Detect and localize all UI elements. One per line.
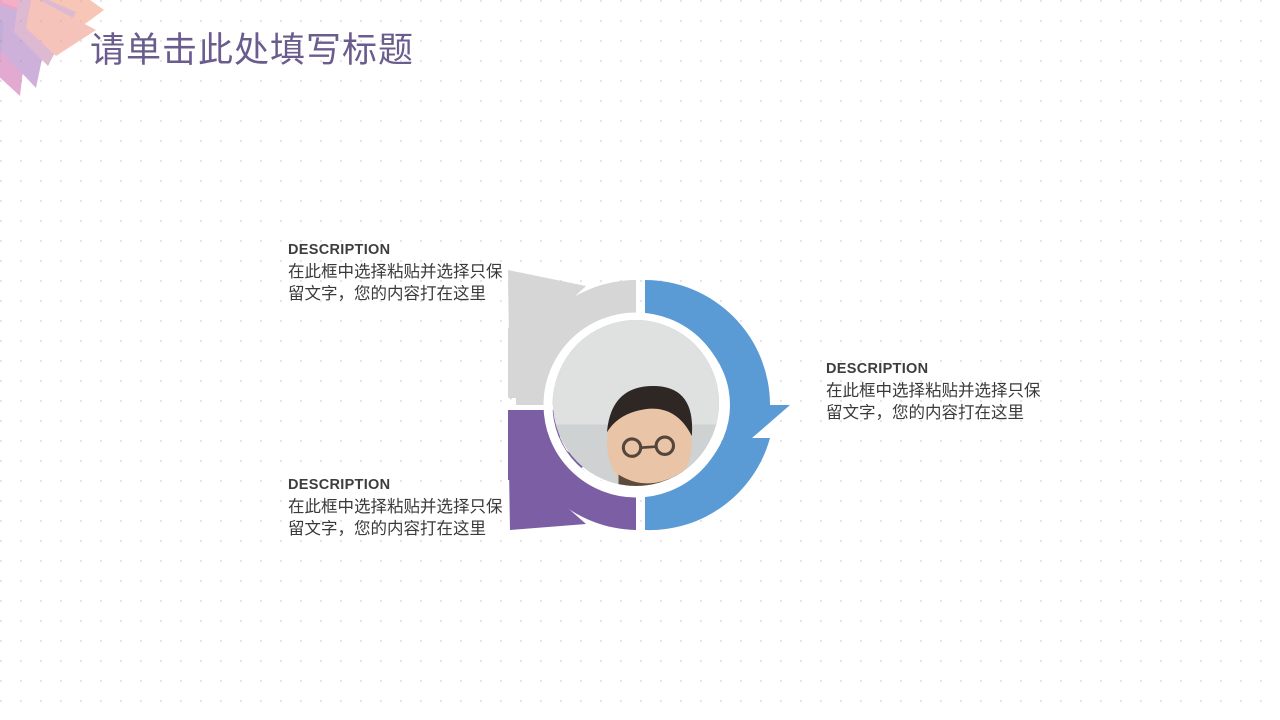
slide-canvas: 请单击此处填写标题 xyxy=(0,0,1280,720)
description-heading: DESCRIPTION xyxy=(288,476,540,494)
description-block-bottom-left: DESCRIPTION 在此框中选择粘贴并选择只保 留文字，您的内容打在这里 xyxy=(288,476,540,540)
description-text: 在此框中选择粘贴并选择只保 留文字，您的内容打在这里 xyxy=(826,380,1078,424)
description-line-2: 留文字，您的内容打在这里 xyxy=(288,518,540,540)
center-photo xyxy=(553,320,719,486)
page-title: 请单击此处填写标题 xyxy=(90,28,414,74)
description-text: 在此框中选择粘贴并选择只保 留文字，您的内容打在这里 xyxy=(288,496,540,540)
description-line-1: 在此框中选择粘贴并选择只保 xyxy=(288,261,540,283)
description-block-top-left: DESCRIPTION 在此框中选择粘贴并选择只保 留文字，您的内容打在这里 xyxy=(288,241,540,305)
description-line-1: 在此框中选择粘贴并选择只保 xyxy=(826,380,1078,402)
description-text: 在此框中选择粘贴并选择只保 留文字，您的内容打在这里 xyxy=(288,261,540,305)
description-heading: DESCRIPTION xyxy=(288,241,540,259)
description-block-right: DESCRIPTION 在此框中选择粘贴并选择只保 留文字，您的内容打在这里 xyxy=(826,360,1078,424)
description-heading: DESCRIPTION xyxy=(826,360,1078,378)
description-line-1: 在此框中选择粘贴并选择只保 xyxy=(288,496,540,518)
description-line-2: 留文字，您的内容打在这里 xyxy=(826,402,1078,424)
description-line-2: 留文字，您的内容打在这里 xyxy=(288,283,540,305)
